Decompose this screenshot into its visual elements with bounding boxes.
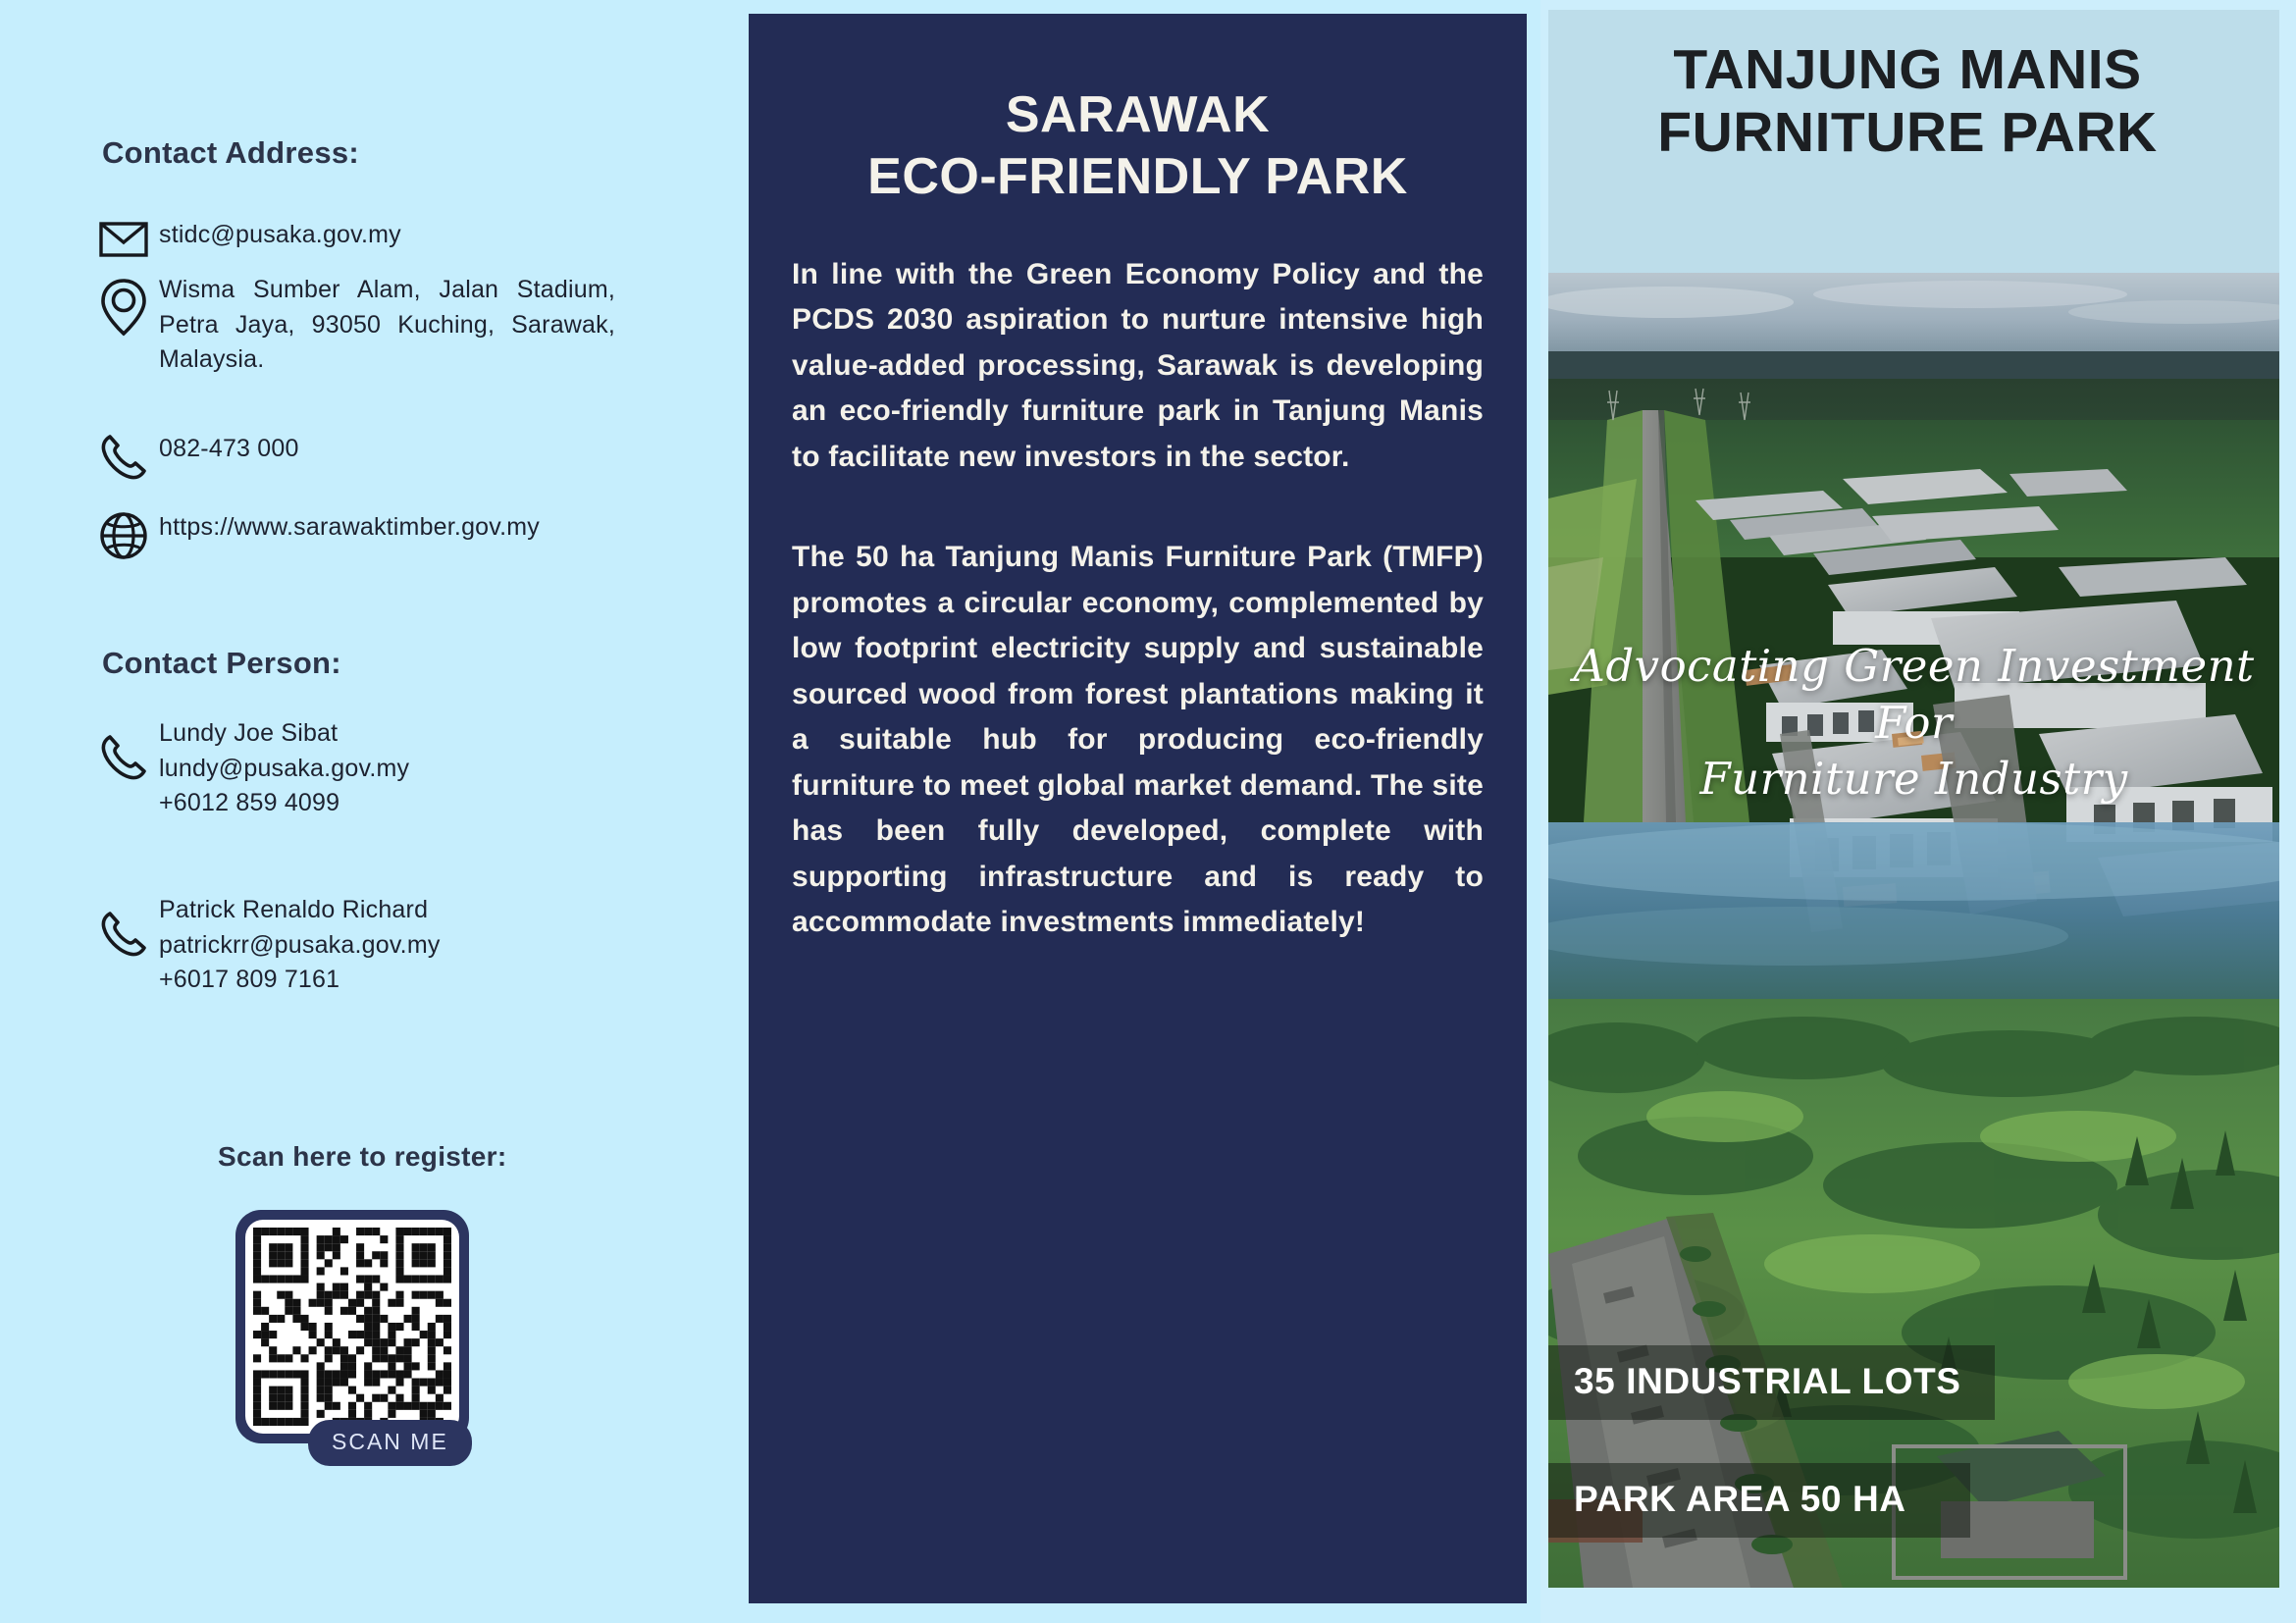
contact-row-phone[interactable]: 082-473 000 xyxy=(98,432,299,483)
phone-value: 082-473 000 xyxy=(159,432,299,467)
envelope-icon xyxy=(98,218,159,259)
address-value: Wisma Sumber Alam, Jalan Stadium, Petra … xyxy=(159,273,615,378)
left-contact-panel: Contact Address: stidc@pusaka.gov.my Wis… xyxy=(0,0,749,1623)
contact-row-website[interactable]: https://www.sarawaktimber.gov.my xyxy=(98,510,540,561)
person-2-name: Patrick Renaldo Richard xyxy=(159,896,428,923)
stat-park-area: PARK AREA 50 HA xyxy=(1548,1463,1970,1538)
qr-code[interactable] xyxy=(235,1210,469,1443)
right-edge-strip xyxy=(2279,0,2296,1623)
person-1-phone: +6012 859 4099 xyxy=(159,789,339,816)
scan-here-label: Scan here to register: xyxy=(218,1141,506,1173)
center-description-panel: SARAWAK ECO-FRIENDLY PARK In line with t… xyxy=(749,14,1527,1603)
right-cover-panel: TANJUNG MANIS FURNITURE PARK xyxy=(1540,0,2296,1623)
globe-icon xyxy=(98,510,159,561)
phone-icon xyxy=(98,432,159,483)
email-value: stidc@pusaka.gov.my xyxy=(159,218,401,253)
scan-me-badge: SCAN ME xyxy=(308,1420,472,1466)
center-panel-title: SARAWAK ECO-FRIENDLY PARK xyxy=(792,84,1484,209)
website-value: https://www.sarawaktimber.gov.my xyxy=(159,510,540,546)
contact-person-heading: Contact Person: xyxy=(102,646,341,681)
center-paragraph-1: In line with the Green Economy Policy an… xyxy=(792,252,1484,481)
person-2-phone: +6017 809 7161 xyxy=(159,966,339,993)
right-title-line-1: TANJUNG MANIS xyxy=(1673,38,2141,101)
person-2-email: patrickrr@pusaka.gov.my xyxy=(159,931,441,959)
right-panel-title: TANJUNG MANIS FURNITURE PARK xyxy=(1558,39,2257,165)
phone-icon xyxy=(98,716,159,783)
qr-matrix-icon xyxy=(253,1228,451,1426)
person-1-email: lundy@pusaka.gov.my xyxy=(159,755,409,782)
person-1-name: Lundy Joe Sibat xyxy=(159,719,338,747)
center-title-line-1: SARAWAK xyxy=(1006,86,1270,143)
center-paragraph-2: The 50 ha Tanjung Manis Furniture Park (… xyxy=(792,535,1484,946)
brochure-page: Contact Address: stidc@pusaka.gov.my Wis… xyxy=(0,0,2296,1623)
contact-row-address: Wisma Sumber Alam, Jalan Stadium, Petra … xyxy=(98,273,615,378)
contact-address-heading: Contact Address: xyxy=(102,135,359,171)
aerial-park-photo: Advocating Green Investment For Furnitur… xyxy=(1548,273,2279,1588)
contact-row-email[interactable]: stidc@pusaka.gov.my xyxy=(98,218,401,259)
contact-person-1[interactable]: Lundy Joe Sibat lundy@pusaka.gov.my +601… xyxy=(98,716,409,821)
right-title-line-2: FURNITURE PARK xyxy=(1657,101,2157,164)
location-pin-icon xyxy=(98,273,159,338)
phone-icon xyxy=(98,893,159,960)
contact-person-2[interactable]: Patrick Renaldo Richard patrickrr@pusaka… xyxy=(98,893,441,998)
stat-industrial-lots: 35 INDUSTRIAL LOTS xyxy=(1548,1345,1995,1420)
center-title-line-2: ECO-FRIENDLY PARK xyxy=(867,148,1408,205)
qr-code-inner xyxy=(245,1220,459,1434)
